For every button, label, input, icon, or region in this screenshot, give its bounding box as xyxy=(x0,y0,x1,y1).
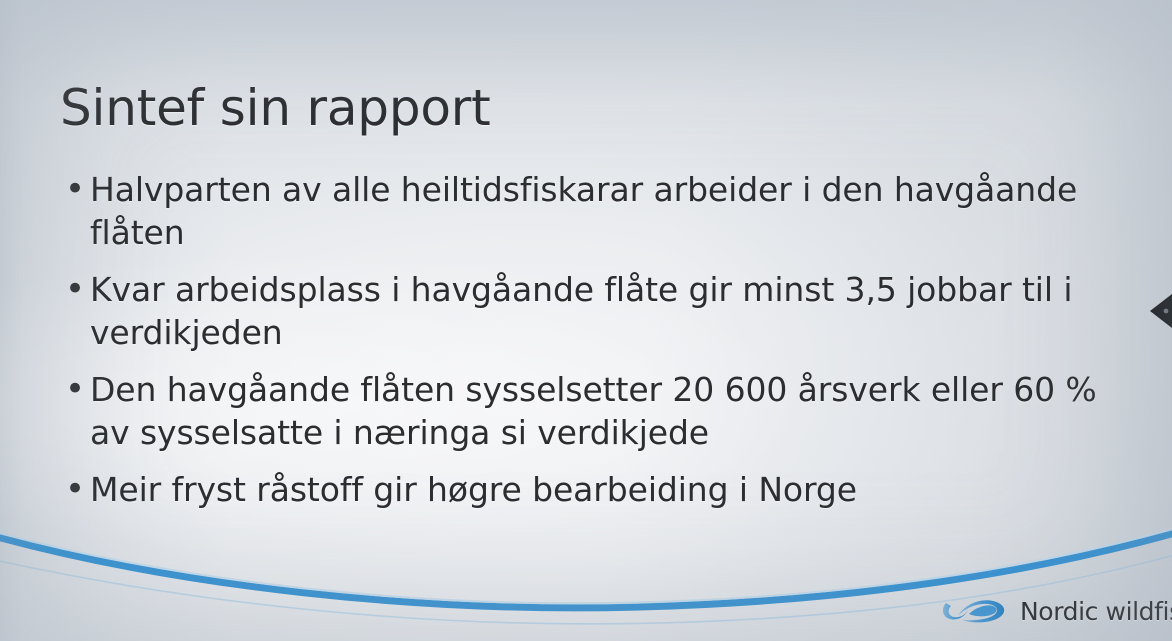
bullet-marker-icon: • xyxy=(62,368,90,410)
list-item: • Den havgåande flåten sysselsetter 20 6… xyxy=(62,368,1112,454)
arrow-left-icon xyxy=(1146,292,1172,330)
bullet-marker-icon: • xyxy=(62,268,90,310)
bullet-marker-icon: • xyxy=(62,168,90,210)
bullet-text: Meir fryst råstoff gir høgre bearbeiding… xyxy=(90,468,1112,511)
bullet-text: Kvar arbeidsplass i havgåande flåte gir … xyxy=(90,268,1112,354)
bullet-text: Den havgåande flåten sysselsetter 20 600… xyxy=(90,368,1112,454)
slide-content: Sintef sin rapport • Halvparten av alle … xyxy=(0,0,1172,641)
list-item: • Halvparten av alle heiltidsfiskarar ar… xyxy=(62,168,1112,254)
bullet-list: • Halvparten av alle heiltidsfiskarar ar… xyxy=(62,168,1112,525)
presentation-slide: Sintef sin rapport • Halvparten av alle … xyxy=(0,0,1172,641)
bullet-text: Halvparten av alle heiltidsfiskarar arbe… xyxy=(90,168,1112,254)
list-item: • Meir fryst råstoff gir høgre bearbeidi… xyxy=(62,468,1112,511)
logo-wordmark: Nordic wildfish™ xyxy=(1020,599,1172,624)
logo-name-text: Nordic wildfish xyxy=(1020,597,1172,626)
slide-title: Sintef sin rapport xyxy=(60,82,491,135)
bullet-marker-icon: • xyxy=(62,468,90,510)
brand-logo: Nordic wildfish™ xyxy=(938,592,1172,630)
fish-swoosh-icon xyxy=(938,592,1010,630)
list-item: • Kvar arbeidsplass i havgåande flåte gi… xyxy=(62,268,1112,354)
